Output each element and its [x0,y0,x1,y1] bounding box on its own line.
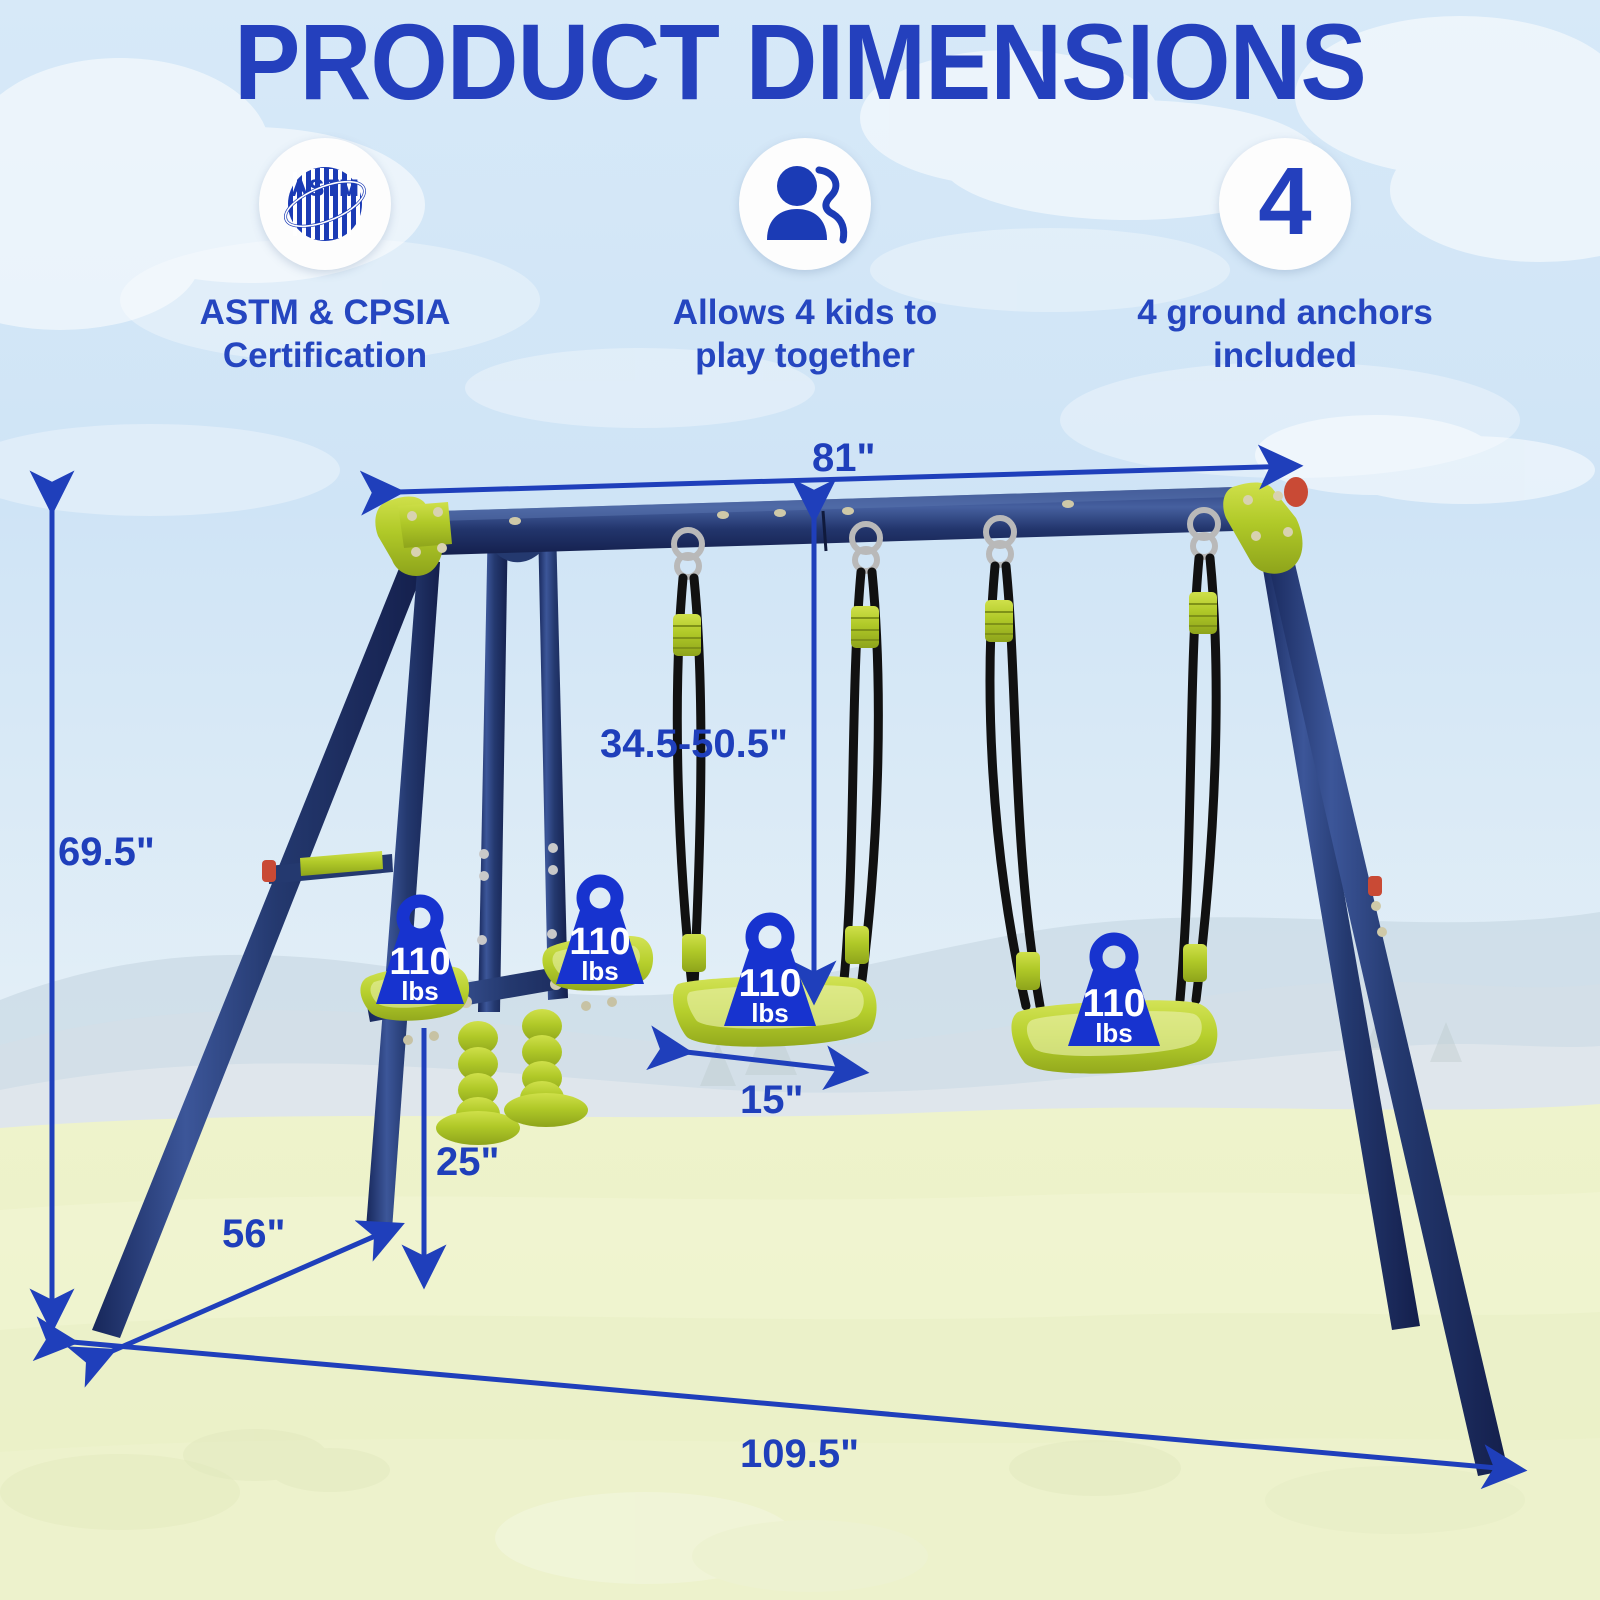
weight-tag-unit-0: lbs [401,976,439,1006]
weight-tag-unit-2: lbs [751,998,789,1028]
astm-badge: ASTM [259,138,391,270]
page-title: PRODUCT DIMENSIONS [64,8,1536,116]
dimension-label-overall-height: 69.5" [58,830,155,875]
weight-tag-unit-3: lbs [1095,1018,1133,1048]
dimension-label-seat-width: 15" [740,1078,803,1123]
feature-anchors-label: 4 ground anchors included [1137,292,1433,377]
dimension-label-overall-base-width: 109.5" [740,1432,859,1477]
feature-astm-label: ASTM & CPSIA Certification [200,292,451,377]
anchors-badge: 4 [1219,138,1351,270]
number-four-icon: 4 [1258,154,1311,250]
infographic-canvas: PRODUCT DIMENSIONS [0,0,1600,1600]
dimension-label-top-beam-width: 81" [812,436,875,481]
dimension-label-glider-seat-height: 25" [436,1140,499,1185]
astm-logo-icon: ASTM [269,148,381,260]
arrow-seat-width [686,1052,862,1072]
feature-astm: ASTM ASTM & CPSIA Certification [110,138,540,377]
weight-tag-glider-right: 110 lbs [540,872,660,992]
feature-kids-label: Allows 4 kids to play together [673,292,938,377]
dimension-label-leg-spread-depth: 56" [222,1212,285,1257]
weight-tag-swing-center: 110 lbs [708,910,832,1034]
feature-badges: ASTM ASTM & CPSIA Certification [110,138,1500,377]
feature-anchors: 4 4 ground anchors included [1070,138,1500,377]
two-people-icon [757,156,853,252]
kids-badge [739,138,871,270]
feature-kids: Allows 4 kids to play together [590,138,1020,377]
weight-tag-glider-left: 110 lbs [360,892,480,1012]
dimension-label-seat-height-range: 34.5-50.5" [600,722,788,767]
weight-tag-swing-right: 110 lbs [1052,930,1176,1054]
weight-tag-unit-1: lbs [581,956,619,986]
